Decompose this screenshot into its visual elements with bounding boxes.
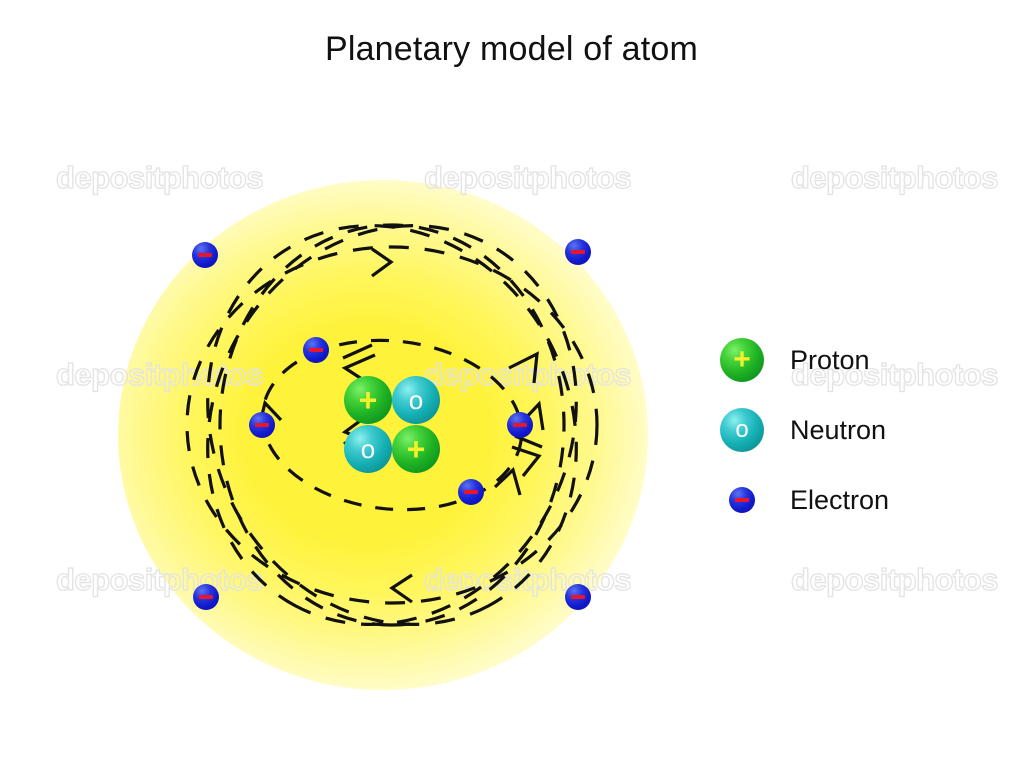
legend: +ProtonoNeutronElectron: [714, 325, 1004, 535]
electron: [192, 242, 218, 268]
minus-icon: [513, 423, 527, 427]
legend-label: Neutron: [790, 415, 886, 446]
electron: [249, 412, 275, 438]
minus-icon: [571, 250, 585, 254]
legend-item-electron[interactable]: Electron: [714, 465, 1004, 535]
legend-item-proton[interactable]: +Proton: [714, 325, 1004, 395]
legend-label: Electron: [790, 485, 889, 516]
legend-item-neutron[interactable]: oNeutron: [714, 395, 1004, 465]
orbit-direction-arrows: [259, 249, 543, 602]
electron: [458, 479, 484, 505]
legend-label: Proton: [790, 345, 870, 376]
electron: [565, 239, 591, 265]
nucleus-proton: +: [344, 376, 392, 424]
proton-icon: +: [720, 338, 764, 382]
plus-icon: +: [407, 433, 426, 465]
minus-icon: [255, 423, 269, 427]
plus-icon: +: [359, 384, 378, 416]
electron: [193, 584, 219, 610]
neutral-o-icon: o: [735, 418, 748, 442]
electron: [565, 584, 591, 610]
diagram-canvas: Planetary model of atom depositphotosdep…: [0, 0, 1023, 763]
neutral-o-icon: o: [361, 436, 375, 462]
orbit-ellipse: [139, 160, 646, 689]
nucleus-neutron: o: [392, 376, 440, 424]
electron: [507, 412, 533, 438]
minus-icon: [464, 490, 478, 494]
nucleus-neutron: o: [344, 425, 392, 473]
neutron-icon: o: [720, 408, 764, 452]
minus-icon: [571, 595, 585, 599]
neutral-o-icon: o: [409, 387, 423, 413]
orbit-ellipse: [254, 328, 530, 522]
minus-icon: [735, 498, 749, 502]
minus-icon: [309, 348, 323, 352]
electron: [303, 337, 329, 363]
minus-icon: [198, 253, 212, 257]
nucleus-proton: +: [392, 425, 440, 473]
orbit-ellipse: [139, 160, 646, 689]
minus-icon: [199, 595, 213, 599]
electron-icon: [729, 487, 755, 513]
plus-icon: +: [733, 345, 751, 375]
